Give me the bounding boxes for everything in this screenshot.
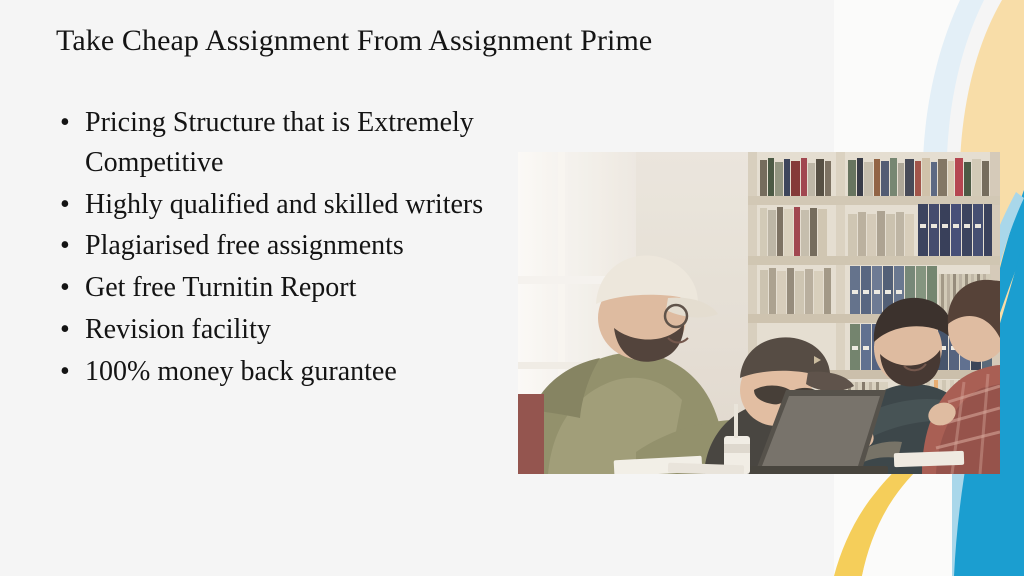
- bullet-marker-icon: •: [60, 226, 70, 266]
- list-item-label: Pricing Structure that is Extremely Comp…: [85, 107, 474, 178]
- bullet-marker-icon: •: [60, 103, 70, 143]
- list-item-label: Revision facility: [85, 314, 271, 345]
- library-photo: [518, 152, 1000, 474]
- list-item: • Plagiarised free assignments: [56, 226, 496, 266]
- list-item-label: Plagiarised free assignments: [85, 230, 404, 261]
- bullet-marker-icon: •: [60, 268, 70, 308]
- list-item: • Get free Turnitin Report: [56, 268, 496, 308]
- list-item-label: Highly qualified and skilled writers: [85, 189, 483, 220]
- bullet-marker-icon: •: [60, 185, 70, 225]
- list-item-label: 100% money back gurantee: [85, 356, 397, 387]
- slide-title: Take Cheap Assignment From Assignment Pr…: [56, 22, 652, 60]
- list-item-label: Get free Turnitin Report: [85, 272, 356, 303]
- bullet-marker-icon: •: [60, 310, 70, 350]
- bullet-list: • Pricing Structure that is Extremely Co…: [56, 103, 496, 393]
- list-item: • Highly qualified and skilled writers: [56, 185, 496, 225]
- list-item: • Revision facility: [56, 310, 496, 350]
- slide-canvas: Take Cheap Assignment From Assignment Pr…: [0, 0, 1024, 576]
- list-item: • 100% money back gurantee: [56, 352, 496, 392]
- list-item: • Pricing Structure that is Extremely Co…: [56, 103, 496, 183]
- bullet-marker-icon: •: [60, 352, 70, 392]
